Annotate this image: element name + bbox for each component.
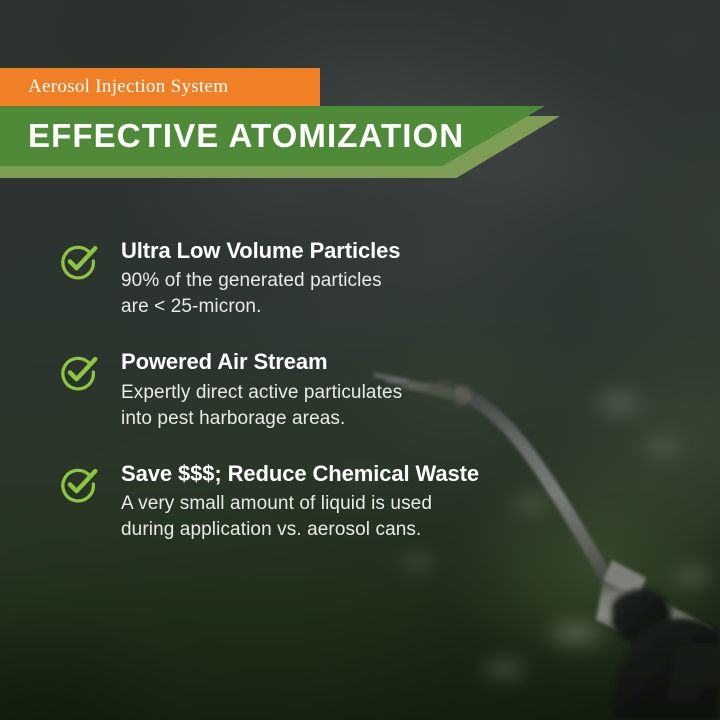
feature-item: Save $$$; Reduce Chemical Waste A very s… — [58, 461, 678, 543]
feature-line: during application vs. aerosol cans. — [121, 517, 678, 543]
check-circle-icon — [58, 240, 100, 282]
feature-line: 90% of the generated particles — [121, 268, 678, 294]
eyebrow-tab: Aerosol Injection System — [0, 68, 320, 106]
page-title: EFFECTIVE ATOMIZATION — [28, 117, 464, 155]
feature-item: Powered Air Stream Expertly direct activ… — [58, 349, 678, 431]
feature-item: Ultra Low Volume Particles 90% of the ge… — [58, 238, 678, 320]
feature-title: Save $$$; Reduce Chemical Waste — [121, 461, 678, 486]
title-banner: EFFECTIVE ATOMIZATION — [0, 106, 580, 180]
feature-list: Ultra Low Volume Particles 90% of the ge… — [58, 238, 678, 543]
eyebrow-label: Aerosol Injection System — [28, 76, 228, 98]
feature-line: are < 25-micron. — [121, 294, 678, 320]
feature-line: Expertly direct active particulates — [121, 380, 678, 406]
feature-line: A very small amount of liquid is used — [121, 491, 678, 517]
feature-line: into pest harborage areas. — [121, 406, 678, 432]
feature-title: Powered Air Stream — [121, 349, 678, 374]
check-circle-icon — [58, 351, 100, 393]
feature-title: Ultra Low Volume Particles — [121, 238, 678, 263]
promo-graphic: Aerosol Injection System EFFECTIVE ATOMI… — [0, 0, 720, 720]
check-circle-icon — [58, 463, 100, 505]
